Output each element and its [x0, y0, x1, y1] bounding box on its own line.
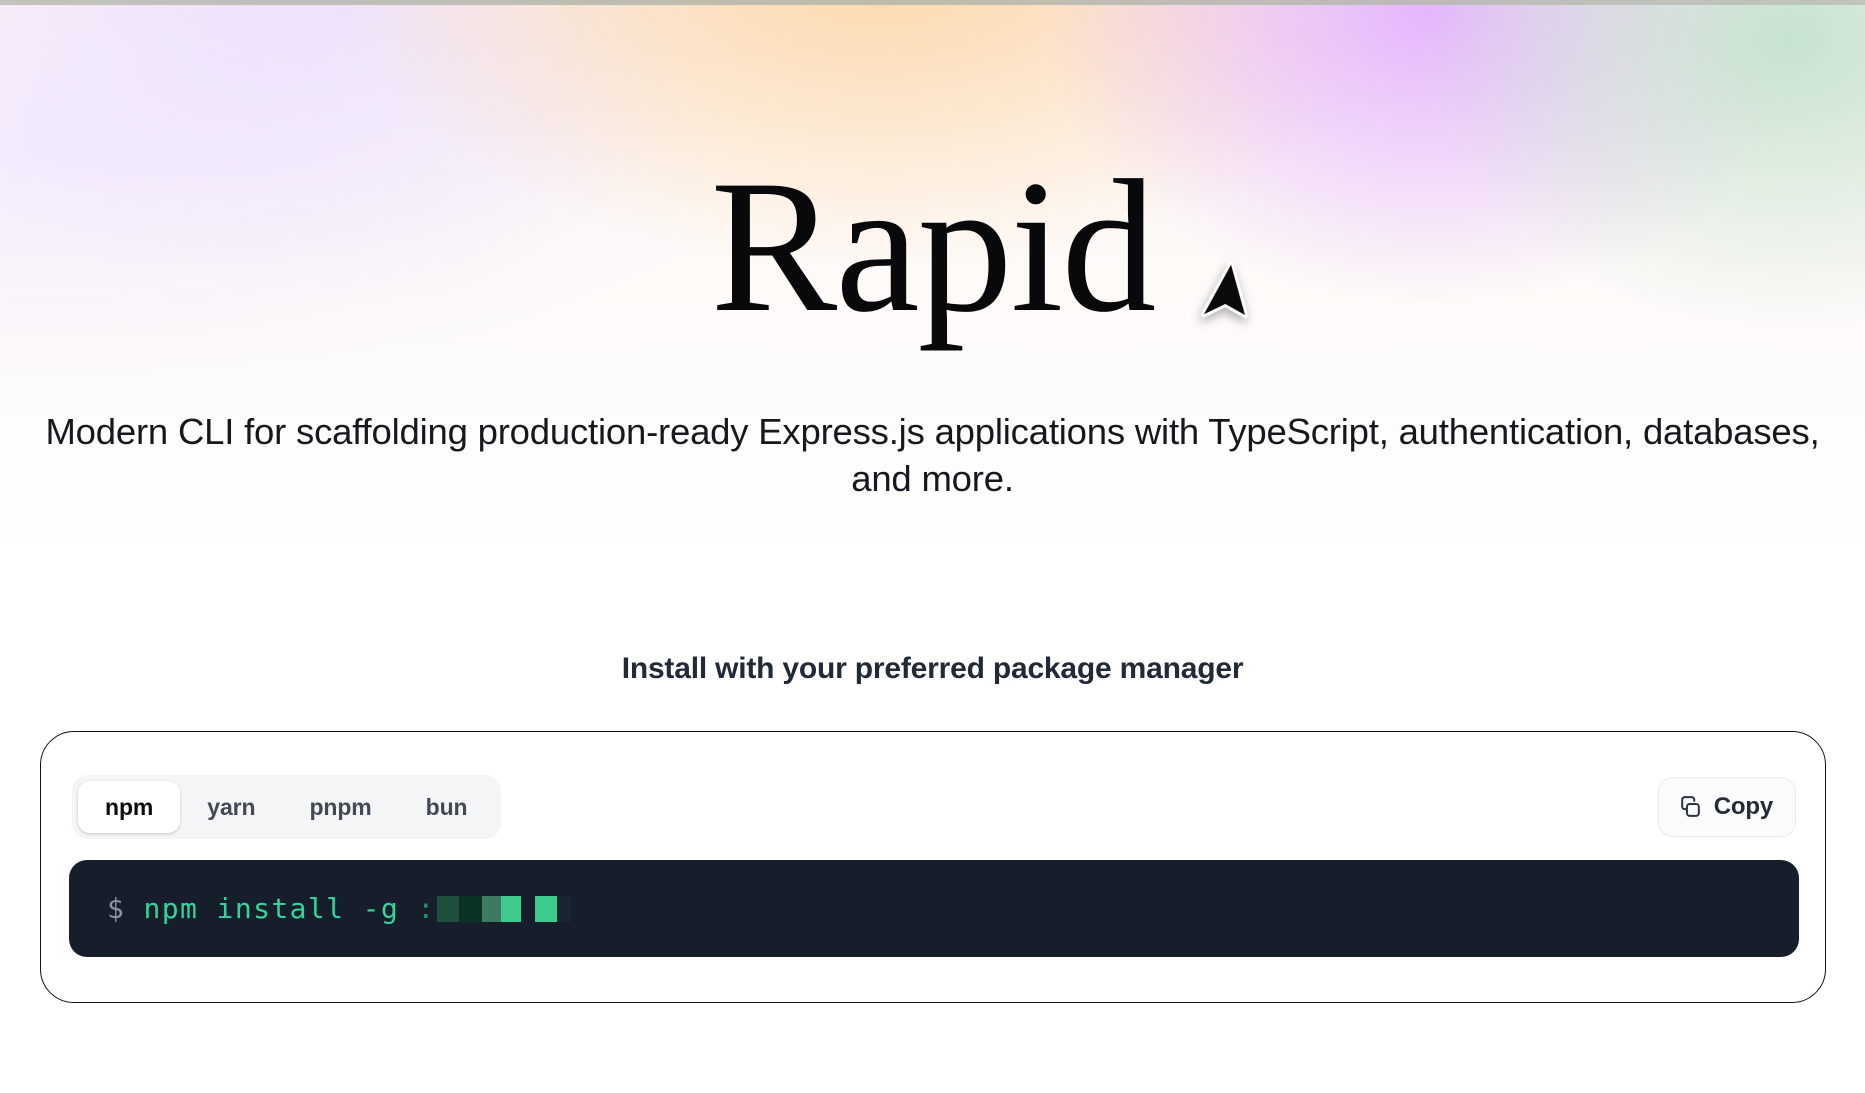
terminal-prompt: $: [107, 892, 125, 925]
redaction-block: [459, 896, 482, 922]
tab-bun[interactable]: bun: [399, 781, 495, 833]
terminal-package-redacted: [437, 896, 571, 922]
landing-page: Rapid Modern CLI for scaffolding product…: [0, 0, 1865, 1093]
redaction-block: [521, 896, 535, 922]
redaction-block: [437, 896, 459, 922]
tab-npm[interactable]: npm: [78, 781, 180, 833]
install-section-heading: Install with your preferred package mana…: [0, 652, 1865, 686]
top-edge-strip: [0, 0, 1865, 5]
terminal-package-separator: :: [417, 892, 435, 925]
tab-pnpm[interactable]: pnpm: [282, 781, 398, 833]
terminal-space: [399, 892, 417, 925]
terminal-command: [125, 892, 143, 925]
copy-button-label: Copy: [1714, 793, 1773, 821]
tab-yarn[interactable]: yarn: [180, 781, 282, 833]
package-manager-tabs: npm yarn pnpm bun: [72, 775, 501, 839]
page-title: Rapid: [0, 152, 1865, 342]
redaction-block: [501, 896, 521, 922]
redaction-block: [482, 896, 501, 922]
terminal-command-box[interactable]: $ npm install -g :: [69, 860, 1799, 957]
copy-button[interactable]: Copy: [1658, 777, 1796, 837]
terminal-line: $ npm install -g :: [107, 892, 571, 925]
terminal-command-text: npm install -g: [144, 892, 400, 925]
install-toolbar: npm yarn pnpm bun Copy: [72, 774, 1796, 840]
redaction-block: [557, 896, 571, 922]
copy-icon: [1678, 795, 1703, 820]
hero-subtitle: Modern CLI for scaffolding production-re…: [43, 408, 1823, 503]
install-card: npm yarn pnpm bun Copy $ npm install -g …: [40, 731, 1826, 1003]
redaction-block: [535, 896, 557, 922]
